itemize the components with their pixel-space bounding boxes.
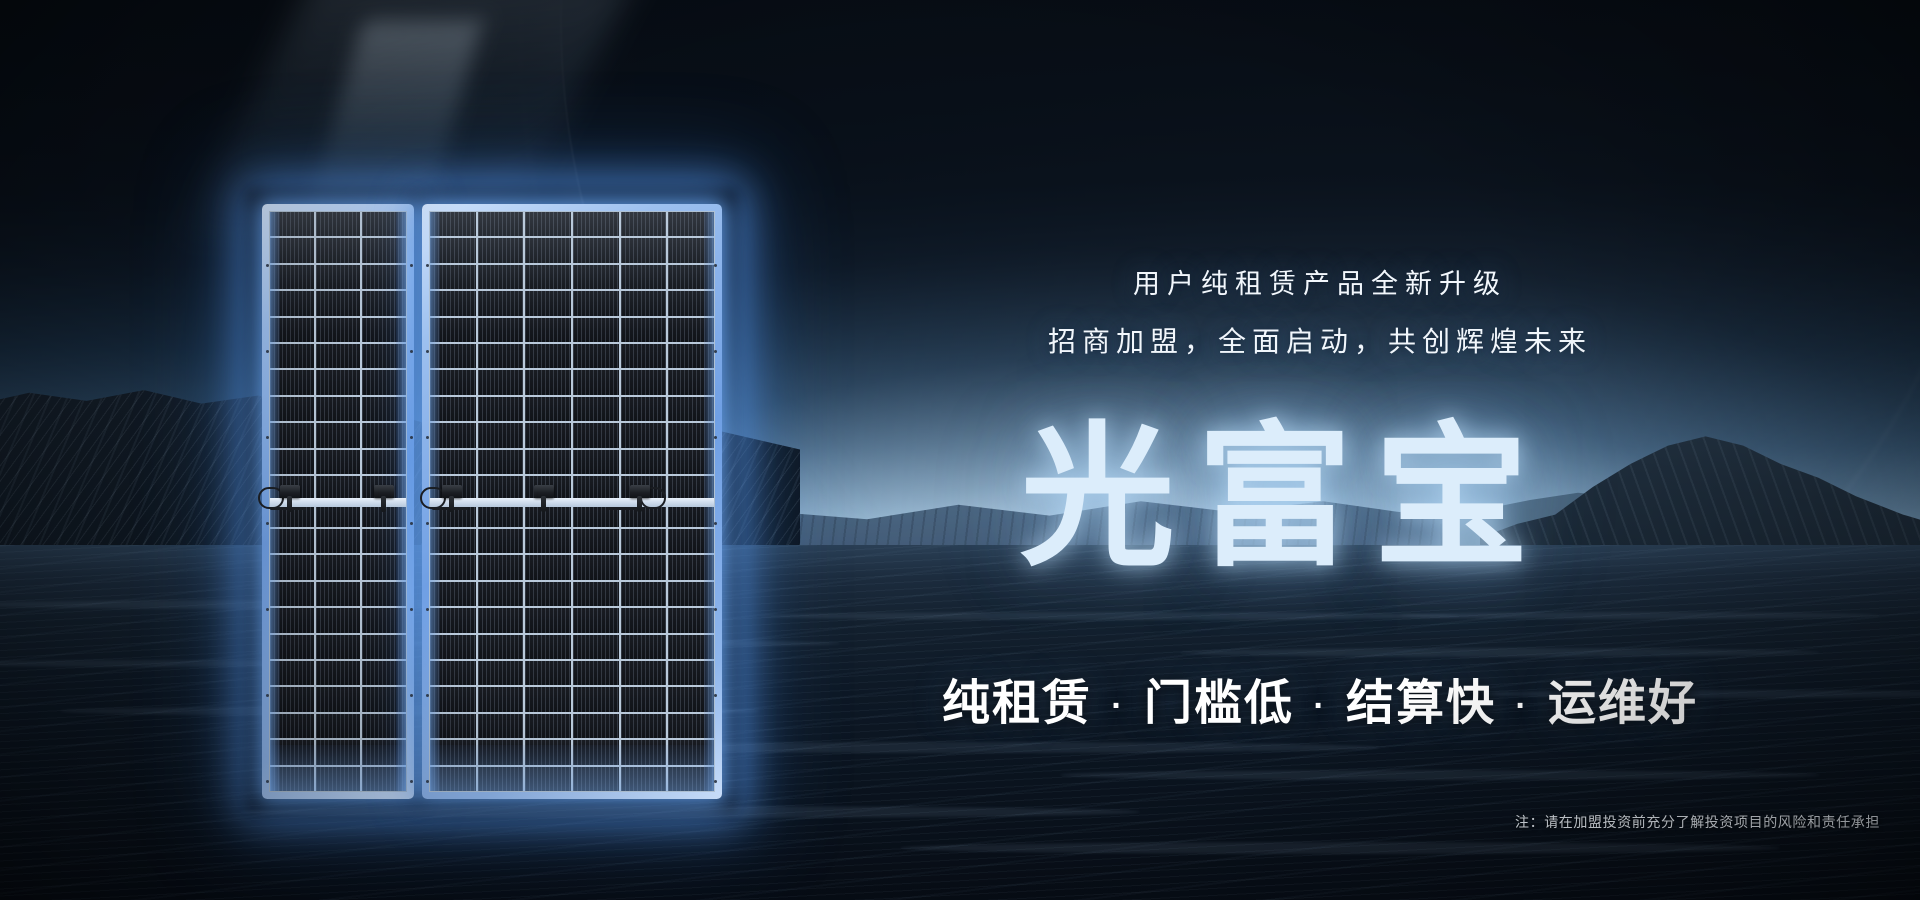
junction-box-stem: [449, 496, 454, 512]
frame-screw: [410, 522, 413, 525]
frame-screw: [426, 780, 429, 783]
frame-screw: [266, 780, 269, 783]
frame-screw: [266, 350, 269, 353]
junction-box-stem: [541, 496, 546, 512]
frame-screw: [714, 436, 717, 439]
frame-screw: [410, 780, 413, 783]
frame-screw: [266, 522, 269, 525]
frame-screw: [714, 350, 717, 353]
junction-box-stem: [637, 496, 642, 512]
frame-screw: [426, 350, 429, 353]
frame-screw: [266, 264, 269, 267]
frame-screw: [714, 264, 717, 267]
frame-screw: [266, 436, 269, 439]
panel-mid-gap-right: [430, 498, 714, 507]
frame-screw: [410, 350, 413, 353]
frame-screw: [714, 694, 717, 697]
frame-screw: [410, 608, 413, 611]
frame-screw: [410, 264, 413, 267]
frame-screw: [714, 608, 717, 611]
promo-banner: 用户纯租赁产品全新升级 招商加盟，全面启动，共创辉煌未来 光富宝 纯租赁 · 门…: [0, 0, 1920, 900]
frame-screw: [426, 608, 429, 611]
frame-screw: [266, 608, 269, 611]
frame-screw: [266, 694, 269, 697]
frame-screw: [714, 522, 717, 525]
frame-screw: [410, 436, 413, 439]
frame-screw: [426, 522, 429, 525]
frame-screw: [426, 436, 429, 439]
frame-screw: [426, 694, 429, 697]
frame-screw: [410, 694, 413, 697]
junction-box-stem: [287, 496, 292, 512]
junction-box-stem: [381, 496, 386, 512]
frame-screw: [714, 780, 717, 783]
frame-screw: [426, 264, 429, 267]
